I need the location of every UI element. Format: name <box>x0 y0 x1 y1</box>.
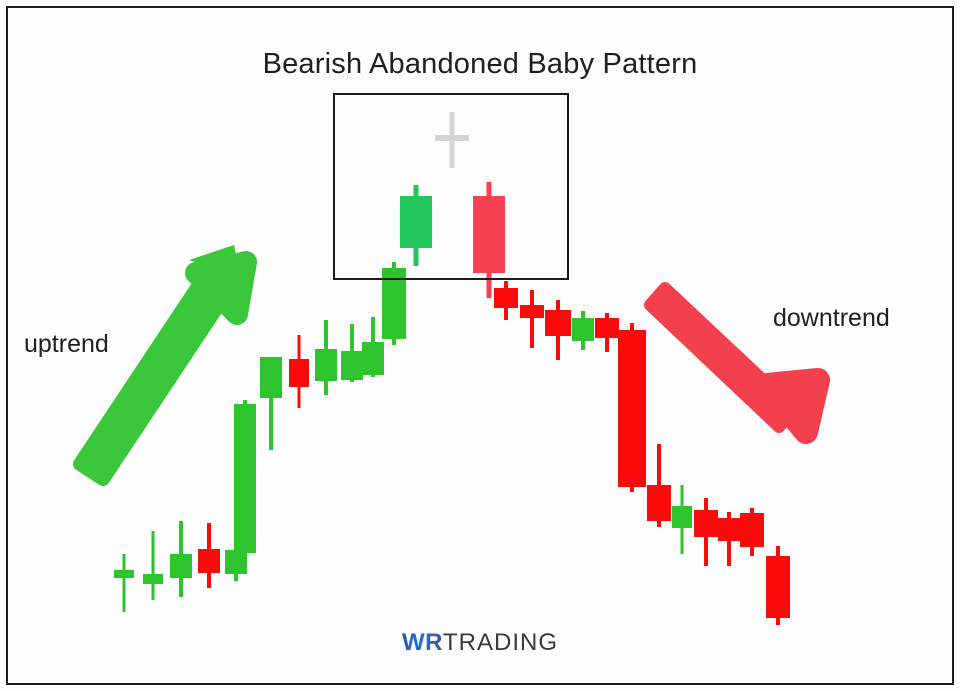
candle-body <box>740 513 764 547</box>
candle-body <box>672 506 692 528</box>
candle-body <box>494 288 518 308</box>
candle-body <box>143 574 163 584</box>
candlestick-up <box>260 357 282 450</box>
candlestick-down <box>766 546 790 625</box>
candle-body <box>198 549 220 573</box>
brand-logo: WRTRADING <box>0 629 960 657</box>
candlestick-up <box>143 531 163 600</box>
candle-body <box>572 318 594 341</box>
candle-body <box>545 310 571 336</box>
candlestick-down <box>740 508 764 556</box>
candlestick-down <box>618 323 646 492</box>
candle-body <box>694 510 718 537</box>
candle-body <box>170 554 192 578</box>
candlestick-up <box>341 324 363 382</box>
candlestick-down <box>289 335 309 408</box>
candlestick-up <box>114 554 134 612</box>
candle-body <box>766 556 790 618</box>
candlestick-down <box>494 281 518 320</box>
candle-body <box>289 359 309 387</box>
candlestick-up <box>362 317 384 377</box>
candlestick-up <box>170 521 192 597</box>
candle-body <box>362 342 384 375</box>
candlestick-down <box>545 300 571 360</box>
candle-body <box>595 318 619 338</box>
candle-body <box>260 357 282 398</box>
candlestick-down <box>694 498 718 566</box>
candlestick-down <box>718 512 740 566</box>
candle-wick <box>530 290 534 348</box>
candle-body <box>341 351 363 380</box>
candle-wick <box>152 531 155 600</box>
candlestick-up <box>234 400 256 557</box>
candlestick-up <box>672 485 692 554</box>
candlestick-up <box>315 320 337 395</box>
candle-body <box>520 305 544 318</box>
candlestick-down <box>520 290 544 348</box>
uptrend-label: uptrend <box>24 330 109 359</box>
candlestick-down <box>198 523 220 588</box>
logo-wordmark: TRADING <box>443 629 558 656</box>
candle-body <box>315 349 337 381</box>
pattern-highlight-box <box>333 93 569 280</box>
candlestick-up <box>572 311 594 350</box>
candlestick-pattern-illustration: Bearish Abandoned Baby Pattern uptrend d… <box>0 0 960 691</box>
candle-body <box>234 404 256 553</box>
candlestick-down <box>595 313 619 352</box>
logo-mark: WR <box>402 629 443 656</box>
candle-body <box>114 570 134 578</box>
candle-body <box>718 518 740 541</box>
candle-wick <box>123 554 126 612</box>
candle-body <box>618 330 646 487</box>
candle-body <box>647 485 671 521</box>
candlestick-down <box>647 444 671 527</box>
downtrend-label: downtrend <box>773 304 890 333</box>
